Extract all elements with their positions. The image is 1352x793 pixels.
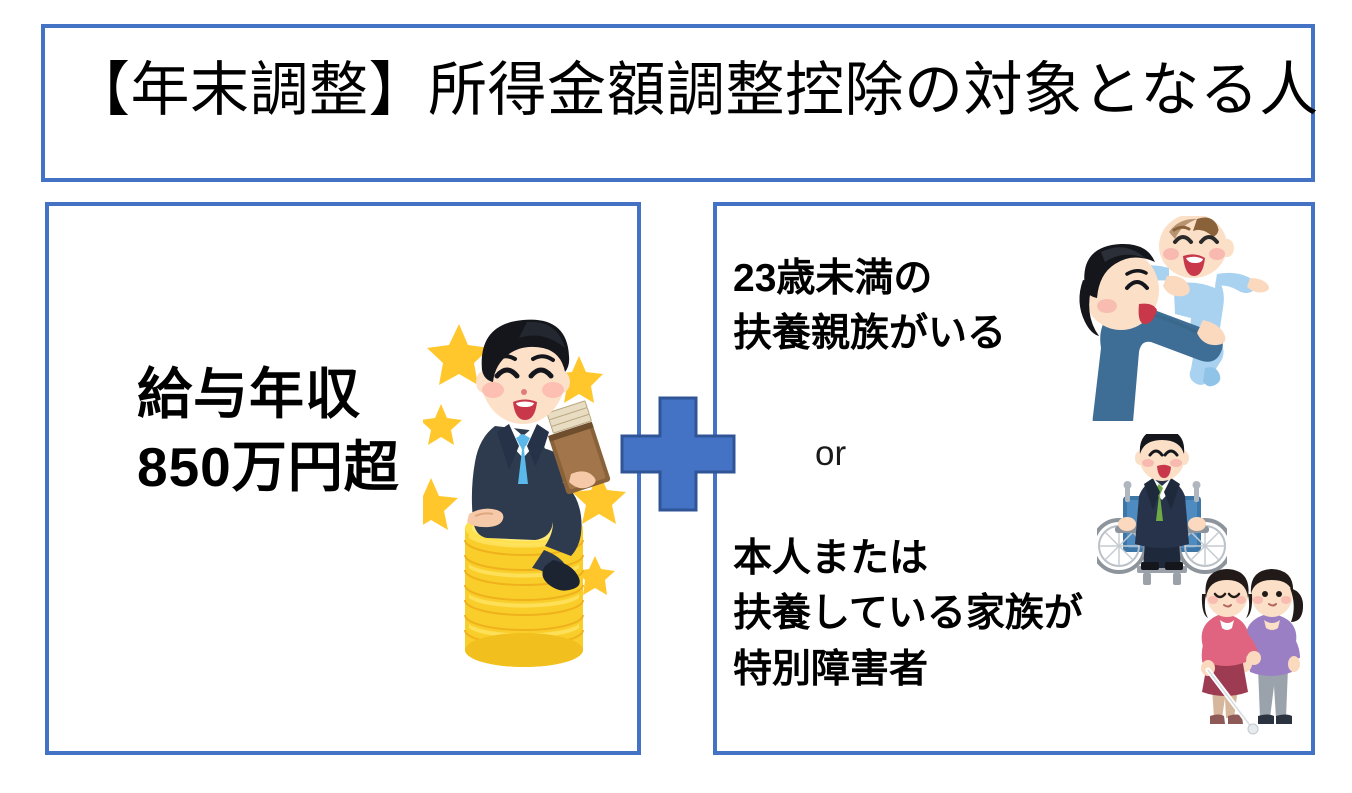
parent-lifting-baby-icon xyxy=(1047,216,1277,421)
white-cane-user-icon xyxy=(1182,558,1322,738)
plus-icon xyxy=(614,390,742,518)
or-operator-label: or xyxy=(815,434,846,474)
family-condition-panel: 23歳未満の 扶養親族がいる or 本人または 扶養している家族が 特別障害者 xyxy=(713,202,1315,755)
dependent-condition-label: 23歳未満の 扶養親族がいる xyxy=(733,251,1006,362)
disability-condition-label: 本人または 扶養している家族が 特別障害者 xyxy=(733,531,1083,697)
businessman-on-coins-icon xyxy=(423,278,643,698)
income-condition-label: 給与年収 850万円超 xyxy=(137,358,400,503)
page-title: 【年末調整】所得金額調整控除の対象となる人 xyxy=(71,58,1319,123)
income-condition-panel: 給与年収 850万円超 xyxy=(45,202,641,755)
title-panel: 【年末調整】所得金額調整控除の対象となる人 xyxy=(41,24,1315,182)
